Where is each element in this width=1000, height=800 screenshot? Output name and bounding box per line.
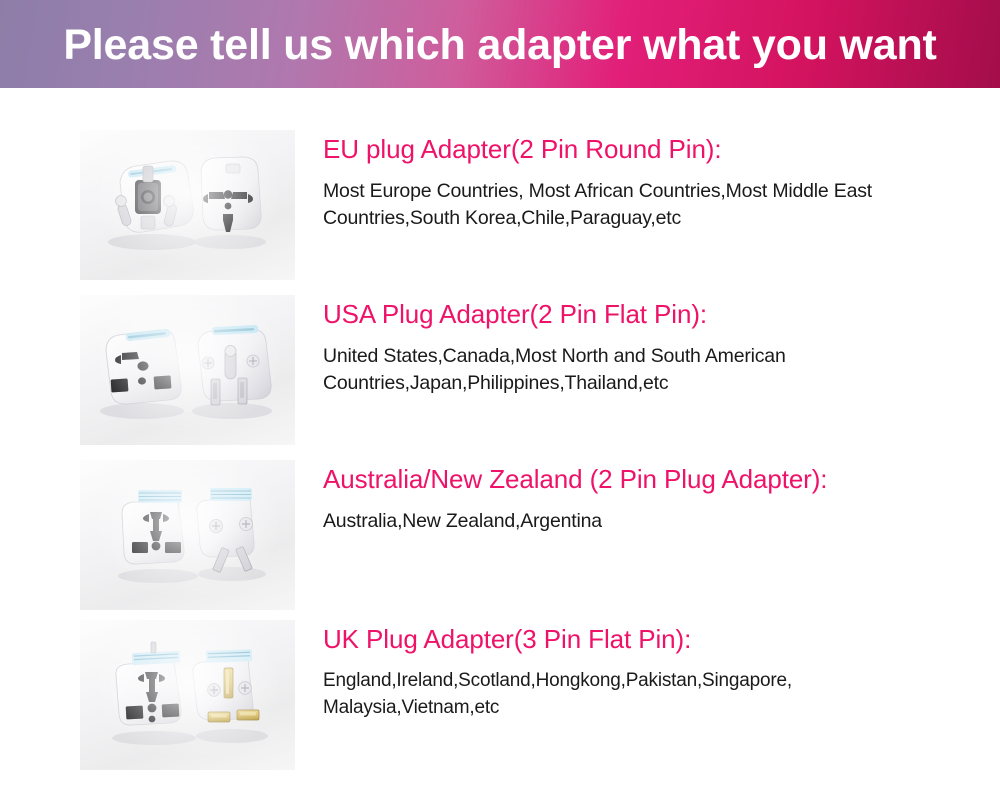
australia-plug-icon	[80, 460, 295, 610]
eu-heading: EU plug Adapter(2 Pin Round Pin):	[323, 134, 960, 165]
adapter-row-usa: USA Plug Adapter(2 Pin Flat Pin): United…	[80, 295, 960, 453]
uk-text-block: UK Plug Adapter(3 Pin Flat Pin): England…	[295, 620, 960, 722]
eu-text-block: EU plug Adapter(2 Pin Round Pin): Most E…	[295, 130, 960, 233]
usa-description: United States,Canada,Most North and Sout…	[323, 343, 960, 398]
page-title: Please tell us which adapter what you wa…	[63, 24, 936, 67]
usa-plug-adapter-photo	[80, 295, 295, 445]
usa-heading: USA Plug Adapter(2 Pin Flat Pin):	[323, 299, 960, 330]
eu-plug-adapter-photo	[80, 130, 295, 280]
eu-plug-icon	[80, 130, 295, 280]
usa-text-block: USA Plug Adapter(2 Pin Flat Pin): United…	[295, 295, 960, 398]
uk-description: England,Ireland,Scotland,Hongkong,Pakist…	[323, 668, 960, 722]
australia-plug-adapter-photo	[80, 460, 295, 610]
australia-description: Australia,New Zealand,Argentina	[323, 508, 960, 536]
uk-plug-adapter-photo	[80, 620, 295, 770]
page-header-banner: Please tell us which adapter what you wa…	[0, 0, 1000, 88]
adapter-guide-page: Please tell us which adapter what you wa…	[0, 0, 1000, 800]
adapter-row-uk: UK Plug Adapter(3 Pin Flat Pin): England…	[80, 620, 960, 778]
adapter-list: EU plug Adapter(2 Pin Round Pin): Most E…	[0, 88, 1000, 800]
eu-description: Most Europe Countries, Most African Coun…	[323, 178, 960, 233]
uk-plug-icon	[80, 620, 295, 770]
uk-heading: UK Plug Adapter(3 Pin Flat Pin):	[323, 624, 960, 655]
australia-heading: Australia/New Zealand (2 Pin Plug Adapte…	[323, 464, 960, 495]
adapter-row-australia: Australia/New Zealand (2 Pin Plug Adapte…	[80, 460, 960, 618]
australia-text-block: Australia/New Zealand (2 Pin Plug Adapte…	[295, 460, 960, 535]
adapter-row-eu: EU plug Adapter(2 Pin Round Pin): Most E…	[80, 130, 960, 288]
usa-plug-icon	[80, 295, 295, 445]
